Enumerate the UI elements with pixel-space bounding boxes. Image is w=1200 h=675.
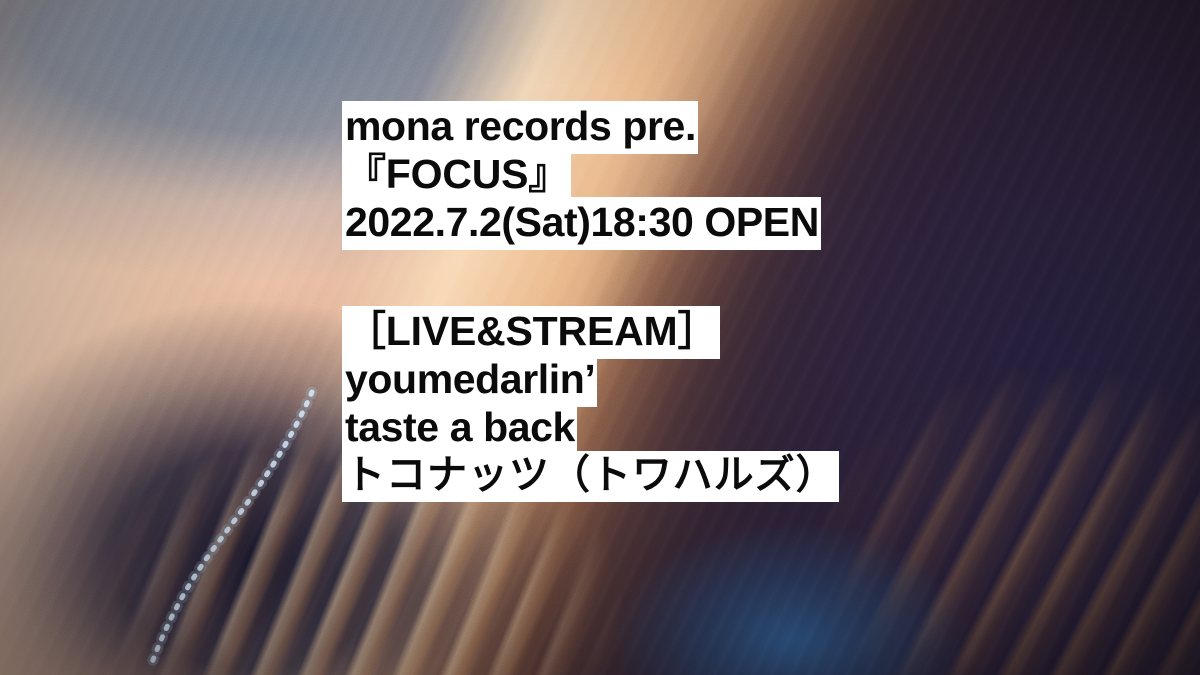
event-flyer-poster: mona records pre. 『FOCUS』 2022.7.2(Sat)1… [0, 0, 1200, 675]
line-artist-1: youmedarlin’ [342, 359, 1142, 400]
line-artist-2: taste a back [342, 407, 1142, 448]
presenter-block: mona records pre. 『FOCUS』 2022.7.2(Sat)1… [342, 106, 1142, 243]
flyer-text-overlay: mona records pre. 『FOCUS』 2022.7.2(Sat)1… [342, 106, 1142, 495]
line-presenter: mona records pre. [342, 106, 1142, 147]
presenter-text: mona records pre. [342, 101, 698, 154]
format-label-text: ［LIVE&STREAM］ [342, 306, 720, 359]
line-event-title: 『FOCUS』 [342, 154, 1142, 195]
artist-3-text: トコナッツ（トワハルズ） [342, 451, 839, 502]
block-spacer [342, 243, 1142, 311]
lineup-block: ［LIVE&STREAM］ youmedarlin’ taste a back … [342, 311, 1142, 495]
event-title-text: 『FOCUS』 [342, 149, 571, 202]
artist-1-text: youmedarlin’ [342, 354, 597, 407]
line-date-time: 2022.7.2(Sat)18:30 OPEN [342, 202, 1142, 243]
line-artist-3: トコナッツ（トワハルズ） [342, 455, 1142, 495]
line-format-label: ［LIVE&STREAM］ [342, 311, 1142, 352]
artist-2-text: taste a back [342, 402, 577, 455]
date-time-text: 2022.7.2(Sat)18:30 OPEN [342, 197, 821, 250]
